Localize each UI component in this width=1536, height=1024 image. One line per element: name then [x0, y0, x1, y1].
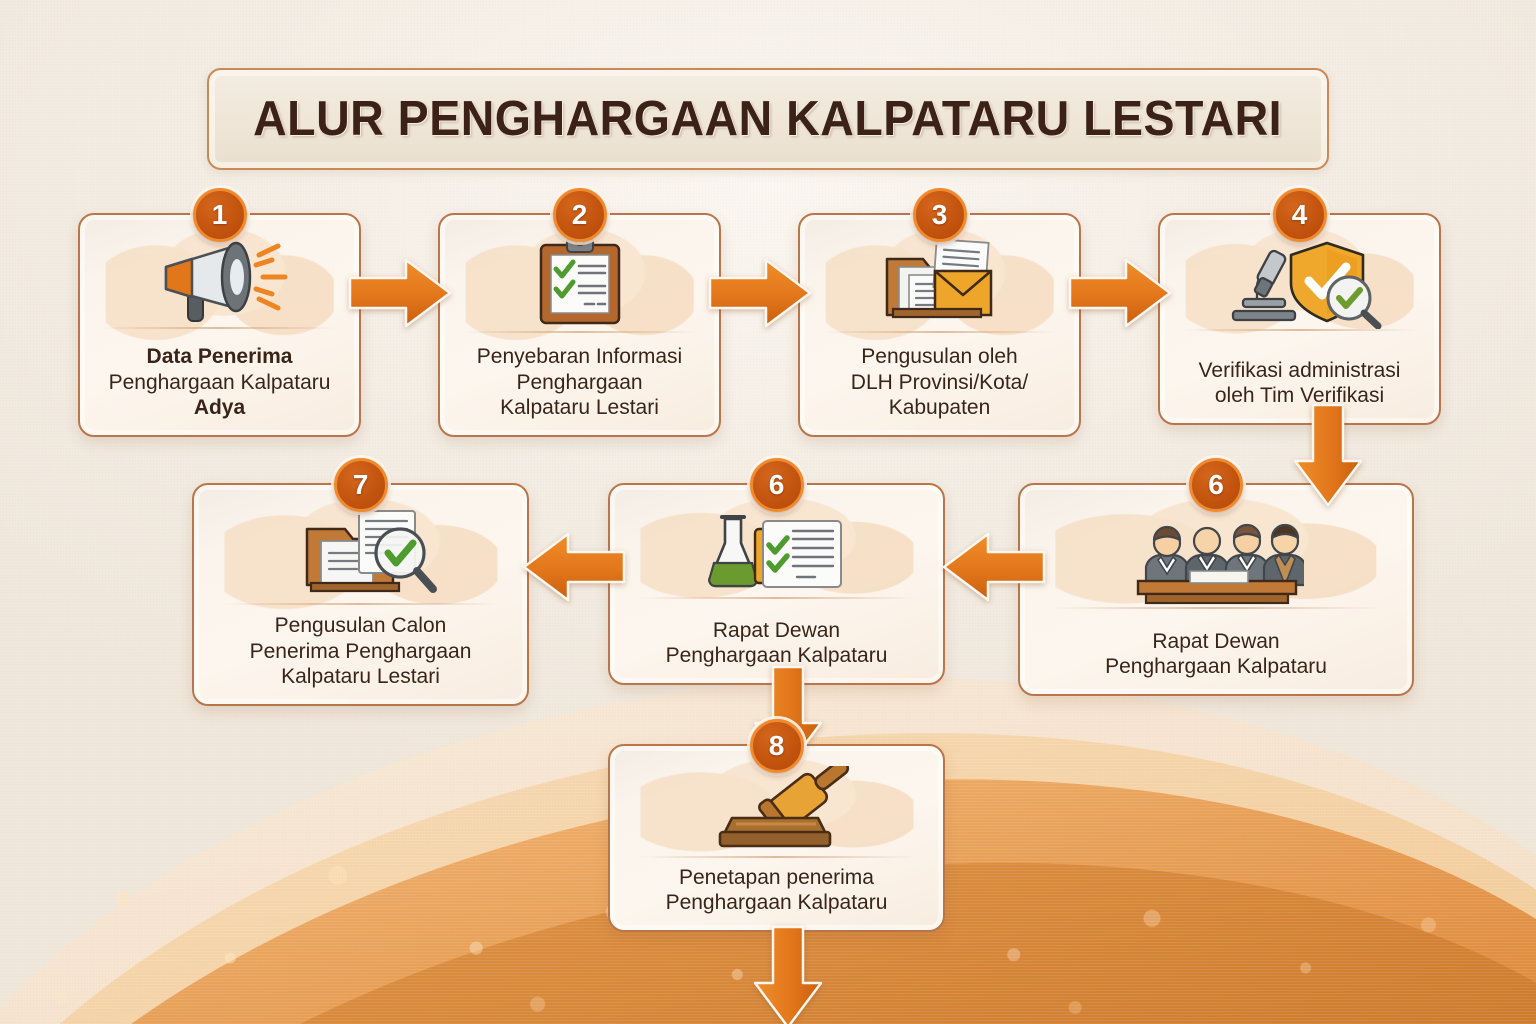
decorative-ground-line [1051, 607, 1380, 609]
step-5-line-2: Penghargaan Kalpataru [1032, 654, 1400, 680]
step-2-line-1: Penyebaran Informasi [448, 344, 710, 370]
arrow-step2-to-step3 [708, 256, 812, 330]
step-3-icon-area [800, 231, 1079, 327]
folder-document-magnifier-check-icon [277, 505, 445, 601]
step-card-6[interactable]: Rapat Dewan Penghargaan Kalpataru 6 [608, 483, 945, 685]
arrow-step6-to-step7 [522, 530, 626, 604]
step-card-2-inner: Penyebaran Informasi Penghargaan Kalpata… [440, 215, 719, 435]
decorative-ground-line [102, 327, 336, 329]
step-4-number-badge: 4 [1273, 188, 1327, 242]
flask-document-check-icon [701, 507, 853, 599]
decorative-ground-line [221, 603, 501, 605]
arrow-left-icon [522, 530, 626, 604]
step-7-line-1: Pengusulan Calon [204, 613, 517, 639]
clipboard-checklist-icon [525, 235, 635, 327]
step-1-label: Data Penerima Penghargaan Kalpataru Adya [88, 344, 350, 435]
step-card-7[interactable]: Pengusulan Calon Penerima Penghargaan Ka… [192, 483, 529, 706]
step-card-1[interactable]: Data Penerima Penghargaan Kalpataru Adya… [78, 213, 361, 437]
step-card-4[interactable]: Verifikasi administrasi oleh Tim Verifik… [1158, 213, 1441, 425]
step-3-line-1: Pengusulan oleh [808, 344, 1070, 370]
step-6-icon-area [610, 501, 943, 599]
arrow-right-icon [1068, 256, 1172, 330]
step-2-line-3: Kalpataru Lestari [448, 395, 710, 421]
decorative-ground-line [1182, 329, 1416, 331]
step-5-label: Rapat Dewan Penghargaan Kalpataru [1032, 629, 1400, 694]
step-card-2[interactable]: Penyebaran Informasi Penghargaan Kalpata… [438, 213, 721, 437]
step-4-icon-area [1160, 231, 1439, 329]
step-6-line-1: Rapat Dewan [620, 618, 933, 644]
step-1-line-2: Penghargaan Kalpataru [88, 370, 350, 396]
step-8-line-1: Penetapan penerima [620, 865, 933, 891]
step-4-line-1: Verifikasi administrasi [1168, 358, 1430, 384]
decorative-ground-line [462, 331, 696, 333]
step-card-1-inner: Data Penerima Penghargaan Kalpataru Adya [80, 215, 359, 435]
arrow-step4-to-step5 [1291, 403, 1365, 507]
folder-envelope-documents-icon [865, 233, 1015, 327]
arrow-step1-to-step2 [348, 256, 452, 330]
step-1-number-badge: 1 [193, 188, 247, 242]
step-7-icon-area [194, 501, 527, 601]
decorative-ground-line [637, 856, 917, 858]
megaphone-icon [146, 235, 294, 327]
microscope-shield-magnifier-icon [1217, 235, 1383, 329]
step-card-8-inner: Penetapan penerima Penghargaan Kalpataru [610, 746, 943, 930]
gavel-icon [702, 766, 852, 856]
step-3-line-3: Kabupaten [808, 395, 1070, 421]
step-1-line-1: Data Penerima [88, 344, 350, 370]
step-card-8[interactable]: Penetapan penerima Penghargaan Kalpataru… [608, 744, 945, 932]
title-banner: ALUR PENGHARGAAN KALPATARU LESTARI [207, 68, 1329, 170]
arrow-step5-to-step6 [942, 530, 1046, 604]
arrow-right-icon [708, 256, 812, 330]
step-8-number-badge: 8 [750, 719, 804, 773]
step-card-3-inner: Pengusulan oleh DLH Provinsi/Kota/ Kabup… [800, 215, 1079, 435]
board-meeting-icon [1128, 507, 1304, 607]
step-8-line-2: Penghargaan Kalpataru [620, 890, 933, 916]
step-6-number-badge: 6 [750, 458, 804, 512]
step-card-5[interactable]: Rapat Dewan Penghargaan Kalpataru 6 [1018, 483, 1414, 696]
step-8-icon-area [610, 762, 943, 856]
step-7-line-3: Kalpataru Lestari [204, 664, 517, 690]
arrow-down-icon [1291, 403, 1365, 507]
step-5-icon-area [1020, 501, 1412, 607]
page-title: ALUR PENGHARGAAN KALPATARU LESTARI [253, 91, 1282, 147]
arrow-down-icon [751, 925, 825, 1024]
step-card-3[interactable]: Pengusulan oleh DLH Provinsi/Kota/ Kabup… [798, 213, 1081, 437]
step-2-number-badge: 2 [553, 188, 607, 242]
step-1-icon-area [80, 231, 359, 327]
step-8-label: Penetapan penerima Penghargaan Kalpataru [620, 865, 933, 930]
infographic-canvas: ALUR PENGHARGAAN KALPATARU LESTARI [0, 0, 1536, 1024]
step-7-line-2: Penerima Penghargaan [204, 639, 517, 665]
step-5-line-1: Rapat Dewan [1032, 629, 1400, 655]
step-3-number-badge: 3 [913, 188, 967, 242]
step-card-5-inner: Rapat Dewan Penghargaan Kalpataru [1020, 485, 1412, 694]
step-3-label: Pengusulan oleh DLH Provinsi/Kota/ Kabup… [808, 344, 1070, 435]
arrow-right-icon [348, 256, 452, 330]
step-2-icon-area [440, 231, 719, 327]
step-card-4-inner: Verifikasi administrasi oleh Tim Verifik… [1160, 215, 1439, 423]
step-7-number-badge: 7 [334, 458, 388, 512]
arrow-step3-to-step4 [1068, 256, 1172, 330]
step-card-7-inner: Pengusulan Calon Penerima Penghargaan Ka… [194, 485, 527, 704]
step-2-line-2: Penghargaan [448, 370, 710, 396]
step-7-label: Pengusulan Calon Penerima Penghargaan Ka… [204, 613, 517, 704]
step-2-label: Penyebaran Informasi Penghargaan Kalpata… [448, 344, 710, 435]
step-3-line-2: DLH Provinsi/Kota/ [808, 370, 1070, 396]
arrow-left-icon [942, 530, 1046, 604]
step-card-6-inner: Rapat Dewan Penghargaan Kalpataru [610, 485, 943, 683]
step-5-number-badge: 6 [1189, 458, 1243, 512]
arrow-step8-outflow [751, 925, 825, 1024]
step-1-line-3: Adya [88, 395, 350, 421]
decorative-ground-line [822, 331, 1056, 333]
